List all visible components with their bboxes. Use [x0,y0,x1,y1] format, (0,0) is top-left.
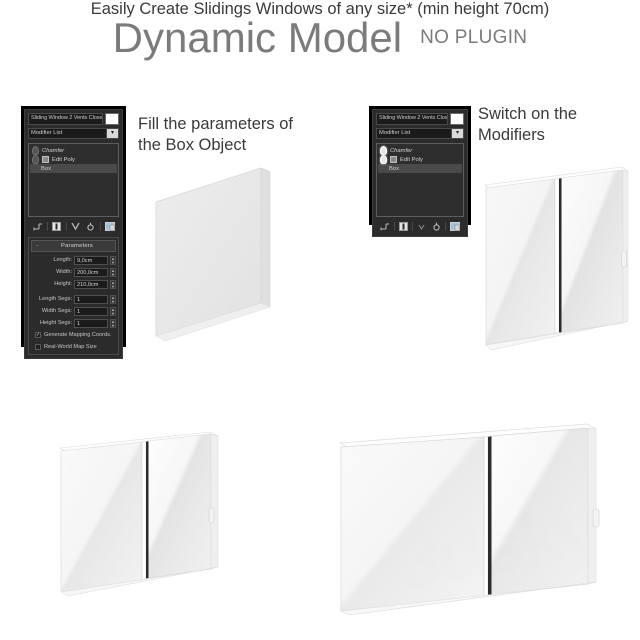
param-label: Width: [56,269,72,275]
object-color-swatch-left[interactable] [105,113,119,125]
checkbox-label: Generate Mapping Coords. [44,332,111,338]
toolbar-separator [66,222,67,231]
command-panel-left[interactable]: Sliding Window 2 Vents Close Modifier Li… [21,106,126,347]
parameters-rollout[interactable]: - Parameters Length: 9,0cm ▲▼ Width: 200… [28,237,119,355]
modifier-name: Edit Poly [52,157,75,163]
page-header: Dynamic ModelNO PLUGIN [0,14,640,62]
param-row-height-segs[interactable]: Height Segs: 1 ▲▼ [31,318,116,328]
width-input[interactable]: 200,0cm [74,268,108,277]
length-input[interactable]: 9,0cm [74,256,108,265]
modifier-name: Edit Poly [400,157,423,163]
modify-panel-left: Sliding Window 2 Vents Close Modifier Li… [24,109,123,359]
object-color-swatch-right[interactable] [450,113,464,125]
show-end-result-icon[interactable] [398,221,410,232]
chevron-down-icon[interactable]: ▾ [106,128,119,139]
width-segs-input[interactable]: 1 [74,307,108,316]
modifier-stack-left[interactable]: Chamfer Edit Poly Box [28,143,119,217]
height-segs-input[interactable]: 1 [74,319,108,328]
modifier-list-label-left[interactable]: Modifier List [28,128,106,139]
param-row-width-segs[interactable]: Width Segs: 1 ▲▼ [31,306,116,316]
object-name-row-right: Sliding Window 2 Vents Close [376,113,464,125]
length-spinner[interactable]: ▲▼ [110,256,116,265]
object-name-field-left[interactable]: Sliding Window 2 Vents Close [28,113,103,125]
modifier-stack-item-chamfer-left[interactable]: Chamfer [30,146,117,155]
modifier-stack-item-chamfer-right[interactable]: Chamfer [378,146,462,155]
param-row-width[interactable]: Width: 200,0cm ▲▼ [31,267,116,277]
width-spinner[interactable]: ▲▼ [110,268,116,277]
make-unique-icon[interactable] [70,221,82,232]
toolbar-separator [394,222,395,231]
param-label: Length Segs: [39,296,72,302]
modifier-stack-item-box-right[interactable]: Box [378,164,462,173]
subobject-expand-icon[interactable] [390,156,397,163]
remove-modifier-icon[interactable] [430,221,442,232]
toolbar-separator [412,222,413,231]
remove-modifier-icon[interactable] [85,221,97,232]
height-input[interactable]: 210,0cm [74,280,108,289]
param-label: Length: [53,257,72,263]
parameters-rollout-header[interactable]: - Parameters [31,240,116,252]
modifier-stack-item-editpoly-left[interactable]: Edit Poly [30,155,117,164]
caption-fill-parameters: Fill the parameters of the Box Object [138,114,348,156]
length-segs-spinner[interactable]: ▲▼ [110,295,116,304]
toolbar-separator [100,222,101,231]
modifier-stack-toolbar-left[interactable] [28,219,119,233]
param-label: Width Segs: [42,308,72,314]
toolbar-separator [445,222,446,231]
modifier-name: Box [389,166,399,172]
param-row-height[interactable]: Height: 210,0cm ▲▼ [31,279,116,289]
page-title: Dynamic Model [113,14,402,61]
box-object-preview [148,166,278,344]
checkbox-label: Real-World Map Size [44,344,97,350]
length-segs-input[interactable]: 1 [74,295,108,304]
lightbulb-icon[interactable] [32,155,39,164]
modifier-list-combo-left[interactable]: Modifier List ▾ [28,128,119,139]
sliding-window-preview-small [58,430,224,602]
generate-mapping-coords-checkbox[interactable] [35,332,41,338]
configure-modifier-sets-icon[interactable] [104,221,116,232]
slide-canvas: Dynamic ModelNO PLUGIN Fill the paramete… [0,0,640,640]
chevron-down-icon[interactable]: ▾ [451,128,464,139]
modify-panel-right: Sliding Window 2 Vents Close Modifier Li… [372,109,468,237]
height-segs-spinner[interactable]: ▲▼ [110,319,116,328]
param-label: Height Segs: [40,320,72,326]
lightbulb-icon[interactable] [380,146,387,155]
param-row-length[interactable]: Length: 9,0cm ▲▼ [31,255,116,265]
modifier-list-label-right[interactable]: Modifier List [376,128,451,139]
subobject-expand-icon[interactable] [42,156,49,163]
modifier-stack-right[interactable]: Chamfer Edit Poly Box [376,143,464,217]
height-spinner[interactable]: ▲▼ [110,280,116,289]
real-world-map-size-checkbox[interactable] [35,344,41,350]
modifier-name: Chamfer [390,148,412,154]
show-end-result-icon[interactable] [51,221,63,232]
sliding-window-preview-top [482,163,632,368]
real-world-map-size-row[interactable]: Real-World Map Size [31,342,116,352]
modifier-stack-item-box-left[interactable]: Box [30,164,117,173]
sliding-window-preview-large [338,421,630,621]
configure-modifier-sets-icon[interactable] [449,221,461,232]
modifier-stack-toolbar-right[interactable] [376,219,464,233]
modifier-stack-item-editpoly-right[interactable]: Edit Poly [378,155,462,164]
collapse-toggle-icon[interactable]: - [34,243,41,249]
width-segs-spinner[interactable]: ▲▼ [110,307,116,316]
lightbulb-icon[interactable] [32,146,39,155]
param-label: Height: [54,281,72,287]
modifier-name: Box [41,166,51,172]
toolbar-separator [47,222,48,231]
no-plugin-badge: NO PLUGIN [420,27,527,48]
modifier-list-combo-right[interactable]: Modifier List ▾ [376,128,464,139]
object-name-row-left: Sliding Window 2 Vents Close [28,113,119,125]
parameters-rollout-title: Parameters [41,243,113,249]
object-name-field-right[interactable]: Sliding Window 2 Vents Close [376,113,448,125]
modifier-name: Chamfer [42,148,64,154]
pin-stack-icon[interactable] [379,221,391,232]
make-unique-icon[interactable] [416,221,428,232]
lightbulb-icon[interactable] [380,155,387,164]
generate-mapping-coords-row[interactable]: Generate Mapping Coords. [31,330,116,340]
param-row-length-segs[interactable]: Length Segs: 1 ▲▼ [31,294,116,304]
command-panel-right[interactable]: Sliding Window 2 Vents Close Modifier Li… [369,106,471,225]
pin-stack-icon[interactable] [32,221,44,232]
caption-switch-modifiers: Switch on the Modifiers [478,104,638,146]
